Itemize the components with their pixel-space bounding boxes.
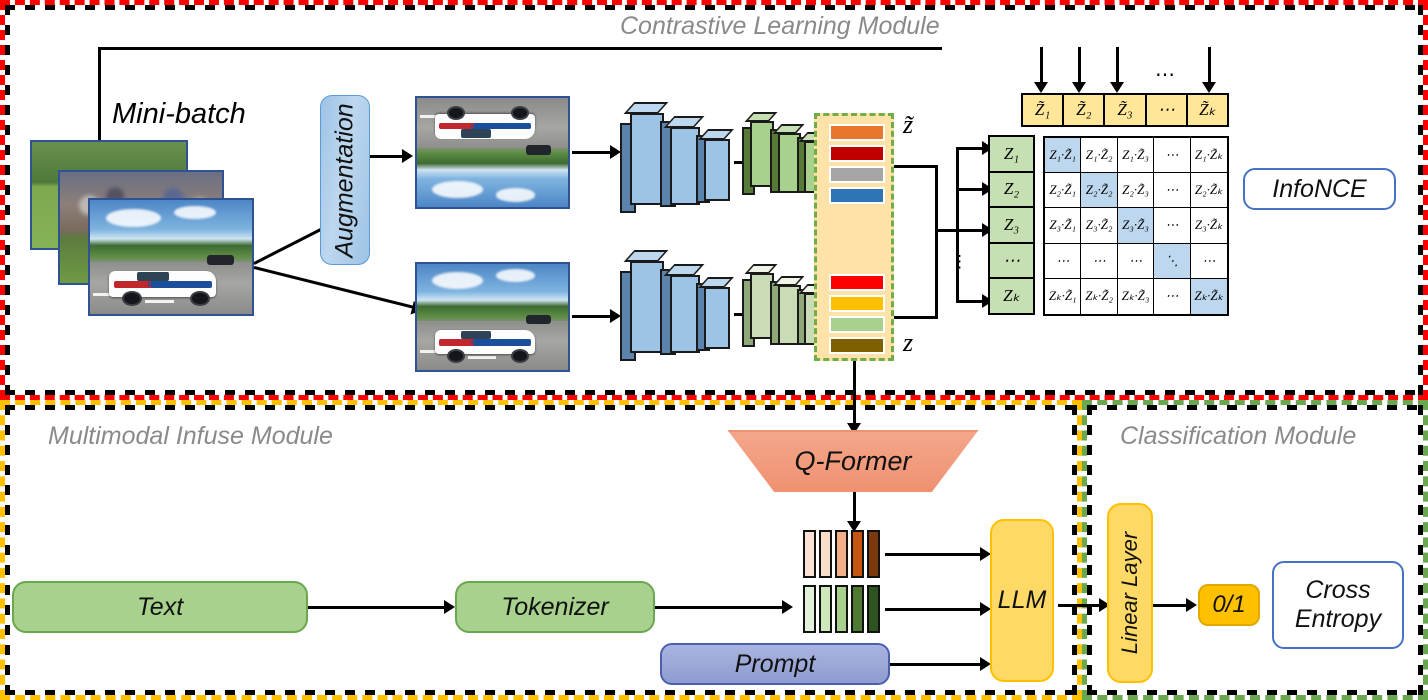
text-token [851,585,864,633]
text-input-block[interactable]: Text [12,581,308,633]
cross-entropy-label: Cross Entropy [1295,576,1381,634]
text-to-tokenizer-line [308,606,448,609]
augmented-view-original: POLICE [415,262,570,372]
text-to-tokenizer-arrow [444,600,455,614]
feature-to-qformer-line [853,361,856,426]
linear-layer-block[interactable]: Linear Layer [1107,503,1153,683]
z-tilde-label: z̃ [903,110,913,140]
similarity-cell: ⋯ [1154,173,1190,208]
cross-entropy-box: Cross Entropy [1272,561,1404,649]
similarity-cell: ⋯ [1154,208,1190,243]
z-tilde-cell: ⋯ [1147,95,1188,125]
similarity-cell: Z₂·Z̃₃ [1118,173,1154,208]
augmentation-out-arrow [402,149,413,163]
classification-module-title: Classification Module [1120,422,1356,451]
image-token [851,530,864,578]
ztilde-fanout-1-line [1040,47,1043,85]
z-cell: Z₂ [990,173,1033,209]
z-distribution-bus [956,147,959,302]
prompt-block[interactable]: Prompt [660,643,890,685]
similarity-cell: Z₂·Z̃ₖ [1191,173,1227,208]
tokenizer-block[interactable]: Tokenizer [455,581,655,633]
augmentation-block[interactable]: Augmentation [320,95,370,265]
text-token [867,585,880,633]
similarity-cell: Z₃·Z̃ₖ [1191,208,1227,243]
text-token [803,585,816,633]
multimodal-module-title: Multimodal Infuse Module [48,422,333,451]
qformer-label: Q-Former [795,446,912,477]
projection-head-bottom [742,265,820,357]
similarity-cell: Z₂·Z̃₁ [1045,173,1081,208]
ztilde-fanout-2-line [1078,47,1081,85]
infonce-loss-box: InfoNCE [1243,168,1396,210]
minibatch-label: Mini-batch [112,98,246,131]
minibatch-photo-1: POLICE [88,198,254,316]
similarity-cell: Z₁·Z̃₃ [1118,138,1154,173]
text-token-strip [803,585,880,633]
text-token [819,585,832,633]
feature-bar-bottom-1 [829,274,885,291]
feature-bar-bottom-2 [829,295,885,312]
tokenizer-to-tokens-line [655,606,785,609]
similarity-cell: Z₁·Z̃ₖ [1191,138,1227,173]
image-encoder-bottom [620,253,730,361]
image-token [803,530,816,578]
tokenizer-to-tokens-arrow [782,600,793,614]
llm-block[interactable]: LLM [990,519,1054,682]
text-tokens-to-llm-line [885,608,985,611]
linear-layer-label: Linear Layer [1117,532,1143,654]
prompt-to-llm-line [890,663,985,666]
merge-vertical-line [935,165,938,319]
z-label: z [903,328,913,358]
z-cell: Z₁ [990,137,1033,173]
similarity-cell: Z₁·Z̃₂ [1081,138,1117,173]
image-token [867,530,880,578]
linear-to-output-arrow [1186,598,1197,612]
similarity-cell: Z₃·Z̃₂ [1081,208,1117,243]
z-tilde-cell: Z̃ₖ [1188,95,1227,125]
similarity-cell: Z₃·Z̃₃ [1118,208,1154,243]
similarity-cell: ⋯ [1045,244,1081,279]
augmented-view-flipped: POLICE [415,96,570,209]
qformer-out-line [853,492,856,524]
output-label: 0/1 [1212,591,1245,619]
feature-bar-bottom-3 [829,316,885,333]
z-cell: Zₖ [990,279,1033,313]
similarity-cell: ⋯ [1154,138,1190,173]
image-encoder-top [620,105,730,213]
feature-bar-top-3 [829,166,885,183]
image-tokens-to-llm-line [885,553,985,556]
similarity-cell: Z₂·Z̃₂ [1081,173,1117,208]
z-column: Z₁Z₂Z₃⋯Zₖ [988,135,1035,315]
ztilde-fanout-3-line [1116,47,1119,85]
contrastive-module-title: Contrastive Learning Module [620,12,940,41]
projection-head-top [742,113,820,205]
feature-bar-top-2 [829,145,885,162]
similarity-cell: Zₖ·Z̃₃ [1118,279,1154,314]
text-input-label: Text [137,593,183,622]
similarity-cell: Z₁·Z̃₁ [1045,138,1081,173]
z-tilde-row: Z̃₁Z̃₂Z̃₃⋯Z̃ₖ [1021,93,1229,127]
similarity-cell: ⋯ [1154,279,1190,314]
top-bus-line [98,47,942,50]
similarity-cell: ⋯ [1191,244,1227,279]
augmentation-label: Augmentation [331,103,360,257]
z-branch-line [894,316,938,319]
z-fanout-dots: ⋮ [951,252,970,272]
view1-to-encoder-line [572,151,612,154]
augmentation-out-line [370,155,404,158]
z-tilde-cell: Z̃₂ [1064,95,1105,125]
ztilde-fanout-1-arrow [1034,82,1048,93]
similarity-cell: ⋯ [1118,244,1154,279]
text-token [835,585,848,633]
infonce-label: InfoNCE [1272,175,1366,204]
ztilde-fanout-k-line [1208,47,1211,85]
similarity-cell: Z₃·Z̃₁ [1045,208,1081,243]
ztilde-fanout-dots: ⋯ [1155,62,1177,87]
feature-embedding-box [814,113,894,361]
ztilde-fanout-3-arrow [1110,82,1124,93]
similarity-cell: Zₖ·Z̃₂ [1081,279,1117,314]
ztilde-branch-line [894,165,938,168]
similarity-cell: ⋱ [1154,244,1190,279]
tokenizer-label: Tokenizer [501,593,608,622]
llm-label: LLM [998,586,1047,615]
image-token [835,530,848,578]
image-token-strip [803,530,880,578]
prompt-label: Prompt [735,650,816,679]
similarity-cell: ⋯ [1081,244,1117,279]
similarity-cell: Zₖ·Z̃₁ [1045,279,1081,314]
z-tilde-cell: Z̃₃ [1105,95,1146,125]
feature-bar-top-4 [829,187,885,204]
output-label-box: 0/1 [1198,584,1260,626]
z-cell: ⋯ [990,244,1033,280]
similarity-cell: Zₖ·Z̃ₖ [1191,279,1227,314]
ztilde-fanout-2-arrow [1072,82,1086,93]
image-token [819,530,832,578]
ztilde-fanout-k-arrow [1202,82,1216,93]
feature-bar-top-1 [829,124,885,141]
z-cell: Z₃ [990,208,1033,244]
similarity-matrix: Z₁·Z̃₁Z₁·Z̃₂Z₁·Z̃₃⋯Z₁·Z̃ₖZ₂·Z̃₁Z₂·Z̃₂Z₂·… [1043,136,1229,316]
z-tilde-cell: Z̃₁ [1023,95,1064,125]
architecture-diagram: Contrastive Learning Module Multimodal I… [0,0,1428,700]
view2-to-encoder-line [572,315,612,318]
feature-bar-bottom-4 [829,337,885,354]
